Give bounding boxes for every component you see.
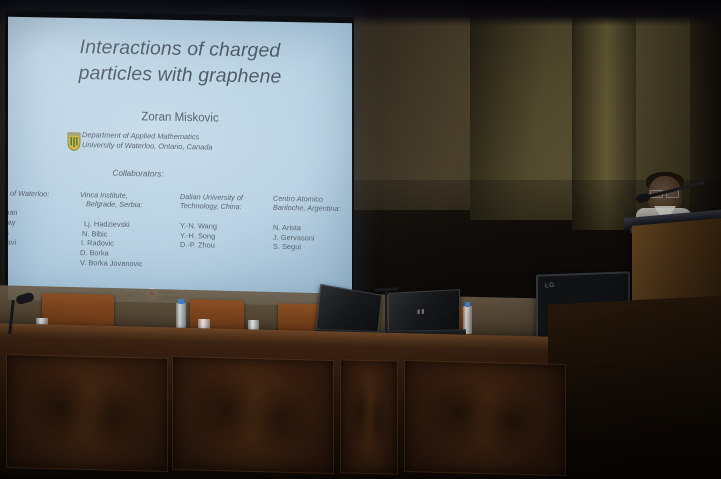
collaborator-column-vinca: Vinca Institute, Belgrade, Serbia: Lj. H… bbox=[80, 190, 172, 269]
microphone-stand bbox=[385, 290, 387, 334]
bottle-cap bbox=[465, 302, 470, 307]
collaborator-column-waterloo: University of Waterloo: K. Goodman D. Mo… bbox=[8, 188, 72, 258]
column-heading-line-1: University of Waterloo: bbox=[8, 188, 72, 199]
laptop-logo-icon: ▮▮ bbox=[417, 308, 426, 315]
collaborator-name: B. Wilson bbox=[8, 246, 72, 258]
collaborator-columns: University of Waterloo: K. Goodman D. Mo… bbox=[8, 188, 352, 195]
slide-affiliation: Department of Applied Mathematics Univer… bbox=[82, 130, 282, 154]
collaborator-column-dalian: Dalian University of Technology, China: … bbox=[180, 192, 266, 252]
column-heading: Vinca Institute, Belgrade, Serbia: bbox=[80, 190, 172, 211]
slide-title-line-2: particles with graphene bbox=[8, 59, 352, 92]
desk-right-section bbox=[548, 295, 721, 479]
university-of-waterloo-shield-icon bbox=[67, 132, 81, 151]
desk-wood-panel bbox=[6, 354, 168, 472]
slide-author: Zoran Miskovic bbox=[8, 109, 352, 128]
collaborator-name: S. Segui bbox=[273, 242, 352, 253]
collaborators-label: Collaborators: bbox=[8, 167, 268, 181]
monitor-brand-label: LG bbox=[545, 282, 555, 289]
slide-title: Interactions of charged particles with g… bbox=[8, 33, 352, 92]
column-heading: Dalian University of Technology, China: bbox=[180, 192, 266, 212]
column-names: N. Arista J. Gervasoni S. Segui bbox=[273, 223, 352, 254]
projection-screen: Interactions of charged particles with g… bbox=[8, 17, 352, 307]
collaborator-name: V. Borka Jovanovic bbox=[80, 258, 172, 269]
column-names: Y.-N. Wang Y.-H. Song D.-P. Zhou bbox=[180, 221, 266, 252]
collaborator-column-bariloche: Centro Atomico Bariloche, Argentina: N. … bbox=[273, 194, 352, 254]
column-heading: University of Waterloo: bbox=[8, 188, 72, 199]
column-heading: Centro Atomico Bariloche, Argentina: bbox=[273, 194, 352, 215]
column-names: K. Goodman D. Mowbray M. Moaga A. Ghazna… bbox=[8, 207, 72, 257]
column-heading-line-2: Bariloche, Argentina: bbox=[273, 203, 352, 214]
collaborator-name: D.-P. Zhou bbox=[180, 240, 266, 251]
desk-wood-panel bbox=[404, 360, 566, 476]
lecture-hall-photo: Interactions of charged particles with g… bbox=[0, 0, 721, 479]
desk-wood-panel bbox=[172, 356, 334, 474]
desk-wood-panel bbox=[340, 359, 398, 474]
bottle-cap bbox=[178, 299, 184, 304]
column-heading-line-2: Belgrade, Serbia: bbox=[80, 199, 172, 210]
column-heading-line-2: Technology, China: bbox=[180, 201, 266, 212]
presentation-slide: Interactions of charged particles with g… bbox=[8, 17, 352, 307]
column-names: Lj. Hadzievski N. Bibic I. Radovic D. Bo… bbox=[80, 219, 172, 269]
